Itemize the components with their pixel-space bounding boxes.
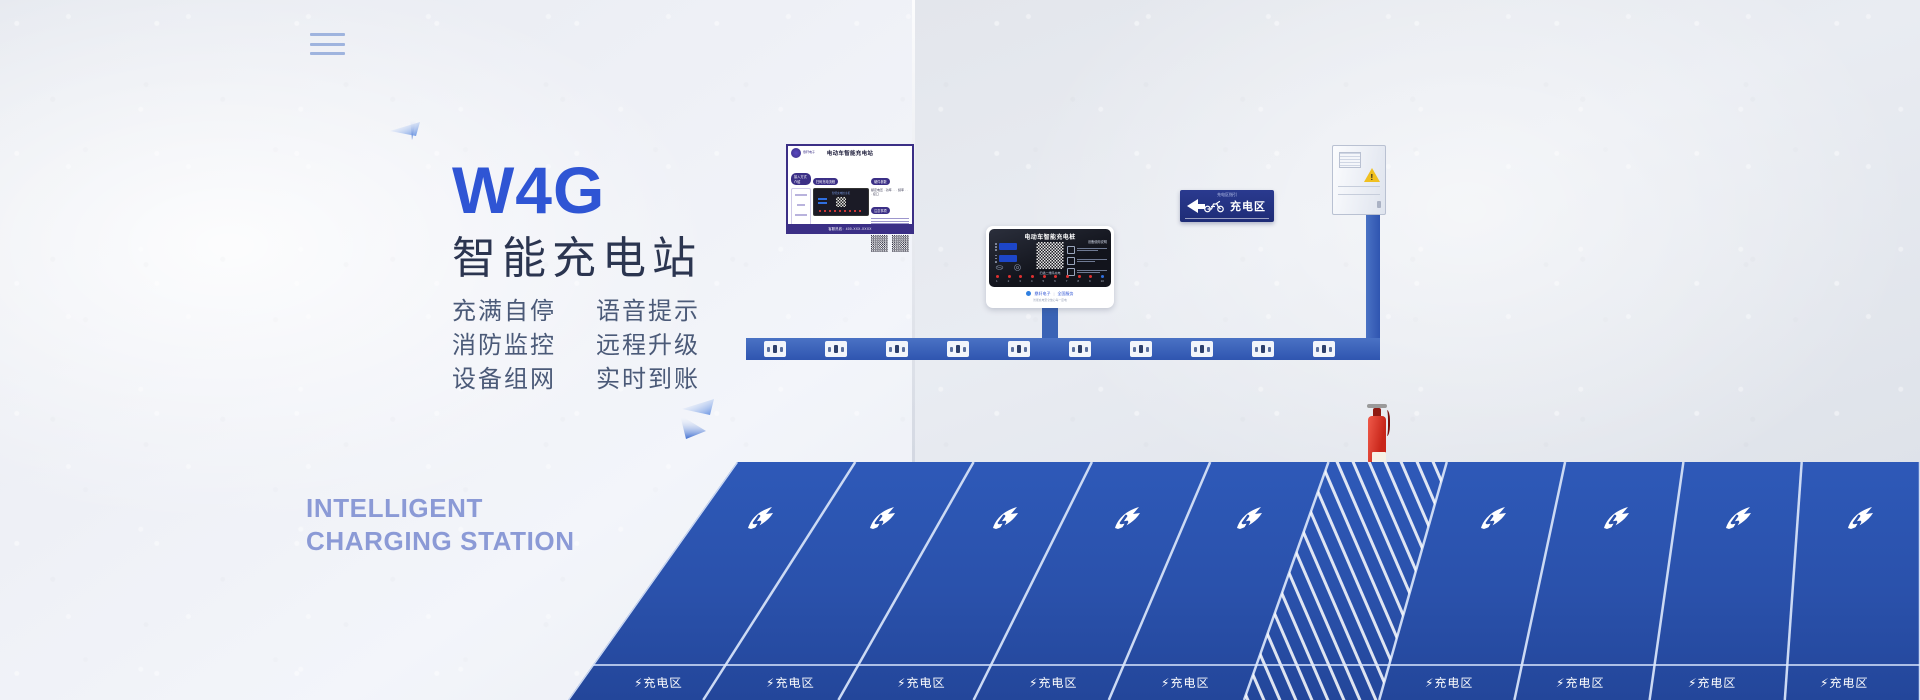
feature-row: 设备组网 实时到账 [452, 362, 706, 396]
floor-slab: ⚡充电区⚡充电区⚡充电区⚡充电区⚡充电区⚡充电区⚡充电区⚡充电区⚡充电区 [568, 462, 1920, 700]
led-number: 1 [996, 279, 998, 283]
direction-sign: 充电区指引 充电区 [1180, 190, 1274, 222]
wall-socket[interactable] [1130, 341, 1152, 357]
feature-item: 远程升级 [596, 328, 706, 362]
charging-plug-icon [742, 501, 778, 535]
brand-title: W4G [452, 157, 702, 223]
led-number: 8 [1077, 279, 1079, 283]
led-indicator [996, 275, 999, 278]
poster-tag: 接入方式介绍 [791, 173, 811, 185]
led-indicator [1043, 275, 1046, 278]
wall-socket[interactable] [1252, 341, 1274, 357]
poster-qr-group: 微信公众号 支付宝小程序 [871, 230, 909, 252]
led-number: 2 [1008, 279, 1010, 283]
hero-headline: W4G 智能充电站 [452, 157, 702, 283]
lcd-display-2 [999, 255, 1017, 262]
left-arrow-icon [1187, 199, 1198, 213]
bay-label: ⚡充电区 [1819, 674, 1869, 691]
wall-socket[interactable] [1069, 341, 1091, 357]
charging-plug-icon [1720, 501, 1756, 535]
coin-slot-icon [995, 263, 1004, 272]
charging-pile-qr[interactable]: 扫描二维码充电 [1037, 242, 1064, 275]
decor-arrow-bottom [680, 395, 726, 445]
charging-plug-icon [864, 501, 900, 535]
feature-row: 充满自停 语音提示 [452, 294, 706, 328]
decor-arrow-top [390, 118, 436, 163]
led-indicator [1008, 275, 1011, 278]
led-number: 3 [1019, 279, 1021, 283]
cabinet-vent [1339, 152, 1361, 168]
bay-label: ⚡充电区 [765, 674, 814, 691]
brand-separator: | [1053, 291, 1054, 296]
charging-pile-icon-row [995, 263, 1022, 272]
pile-brand: 鼎轩电子 [1034, 291, 1050, 297]
poster-column: 接入方式介绍 [791, 170, 811, 213]
wall-socket[interactable] [825, 341, 847, 357]
english-line-2: CHARGING STATION [306, 525, 575, 558]
poster-column-device: 扫码充电流程 智能充电桩主机 [813, 170, 869, 213]
wall-socket[interactable] [1008, 341, 1030, 357]
charging-pile[interactable]: 电动车智能充电桩 [986, 226, 1114, 308]
charging-pile-led-bank: 12345678910 [996, 275, 1104, 283]
bay-label: ⚡充电区 [633, 674, 683, 691]
charging-plug-icon [1231, 501, 1267, 535]
notice-poster: 电动车智能充电站 鼎轩电子 接入方式介绍 扫码充电流程 智能充电桩主机 [786, 144, 914, 234]
poster-body: 接入方式介绍 扫码充电流程 智能充电桩主机 硬件参数 额定电压 · 功率 · ·… [788, 158, 912, 216]
lcd-display-1 [999, 243, 1017, 250]
feature-item: 消防监控 [452, 328, 562, 362]
wall-power-rail [746, 338, 1380, 360]
english-line-1: INTELLIGENT [306, 492, 575, 525]
charging-plug-icon [1475, 501, 1511, 535]
sign-label: 充电区 [1230, 198, 1266, 214]
wall-seam [912, 0, 915, 470]
card-reader-icon [1013, 263, 1022, 272]
charging-plug-icon [1842, 501, 1878, 535]
led-indicator [1078, 275, 1081, 278]
bay-label: ⚡充电区 [1556, 674, 1605, 691]
bay-label: ⚡充电区 [1161, 674, 1210, 691]
feature-row: 消防监控 远程升级 [452, 328, 706, 362]
feature-item: 充满自停 [452, 294, 562, 328]
poster-device-qr-icon [836, 197, 846, 207]
led-number: 10 [1101, 279, 1104, 283]
qr-caption: 扫描二维码充电 [1037, 271, 1064, 275]
english-subtitle: INTELLIGENT CHARGING STATION [306, 492, 575, 557]
led-number: 9 [1089, 279, 1091, 283]
hero-banner: W4G 智能充电站 充满自停 语音提示 消防监控 远程升级 设备组网 实时到账 … [0, 0, 1920, 700]
wall-socket[interactable] [947, 341, 969, 357]
charging-plug-icon [1598, 501, 1634, 535]
led-number: 5 [1043, 279, 1045, 283]
led-number: 6 [1054, 279, 1056, 283]
menu-icon[interactable] [310, 33, 345, 55]
charging-pile-footer: 鼎轩电子 | 全国服务 智能充电安全放心每一度电 [986, 287, 1114, 305]
parking-floor: ⚡充电区⚡充电区⚡充电区⚡充电区⚡充电区⚡充电区⚡充电区⚡充电区⚡充电区 [568, 462, 1920, 700]
page-title: 智能充电站 [452, 235, 702, 283]
led-indicator [1054, 275, 1057, 278]
floor-edge-line [568, 664, 1920, 666]
wall-socket[interactable] [1313, 341, 1335, 357]
charging-pile-screen: 电动车智能充电桩 [989, 229, 1111, 287]
instructions-header: 设备使用说明 [1067, 239, 1107, 244]
bay-label: ⚡充电区 [1029, 674, 1078, 691]
wall-socket[interactable] [764, 341, 786, 357]
poster-title: 电动车智能充电站 [788, 149, 912, 157]
wifi-icon [1067, 246, 1075, 254]
feature-item: 语音提示 [596, 294, 706, 328]
poster-section-tag: 注意事项 [871, 207, 890, 214]
warning-triangle-icon: ! [1364, 168, 1380, 182]
feature-item: 设备组网 [452, 362, 562, 396]
plug-icon [1067, 257, 1075, 265]
wechat-qr-icon [871, 235, 888, 252]
pile-brand-right: 全国服务 [1058, 291, 1074, 297]
led-number: 4 [1031, 279, 1033, 283]
wall-socket[interactable] [886, 341, 908, 357]
led-indicator [1101, 275, 1104, 278]
poster-spec-line: 额定电压 · 功率 · · · 频率 · · · 接口 [871, 188, 909, 196]
brand-logo-icon [1026, 291, 1031, 296]
poster-column-spec: 硬件参数 额定电压 · 功率 · · · 频率 · · · 接口 注意事项 微信… [871, 170, 909, 213]
sign-small-text: 充电区指引 [1180, 192, 1274, 198]
led-number: 7 [1066, 279, 1068, 283]
charging-plug-icon [987, 501, 1023, 535]
alipay-qr-icon [892, 235, 909, 252]
fire-extinguisher [1366, 398, 1388, 466]
charging-plug-icon [1109, 501, 1145, 535]
qr-code-icon [1037, 242, 1064, 269]
bay-label: ⚡充电区 [1688, 674, 1737, 691]
feature-list: 充满自停 语音提示 消防监控 远程升级 设备组网 实时到账 [452, 294, 706, 396]
extinguisher-hose [1382, 410, 1390, 436]
led-indicator [1019, 275, 1022, 278]
led-indicator [1031, 275, 1034, 278]
warning-mark: ! [1371, 173, 1374, 182]
poster-device-image: 智能充电桩主机 [813, 188, 869, 216]
charging-pile-instructions: 设备使用说明 [1067, 239, 1107, 279]
bay-label: ⚡充电区 [897, 674, 946, 691]
scooter-icon [1203, 199, 1225, 213]
bay-label: ⚡充电区 [1424, 674, 1473, 691]
cabinet-lock-icon [1377, 201, 1381, 208]
poster-tag: 扫码充电流程 [813, 178, 838, 185]
feature-item: 实时到账 [596, 362, 706, 396]
poster-tag: 硬件参数 [871, 178, 890, 185]
poster-device-caption: 智能充电桩主机 [814, 191, 868, 195]
poster-footer: 客服热线：400-XXX-XXXX [788, 224, 912, 232]
wall-socket[interactable] [1191, 341, 1213, 357]
led-indicator [1089, 275, 1092, 278]
pile-subtext: 智能充电安全放心每一度电 [1033, 298, 1067, 302]
led-indicator [1066, 275, 1069, 278]
electrical-cabinet[interactable]: ! [1332, 145, 1386, 215]
